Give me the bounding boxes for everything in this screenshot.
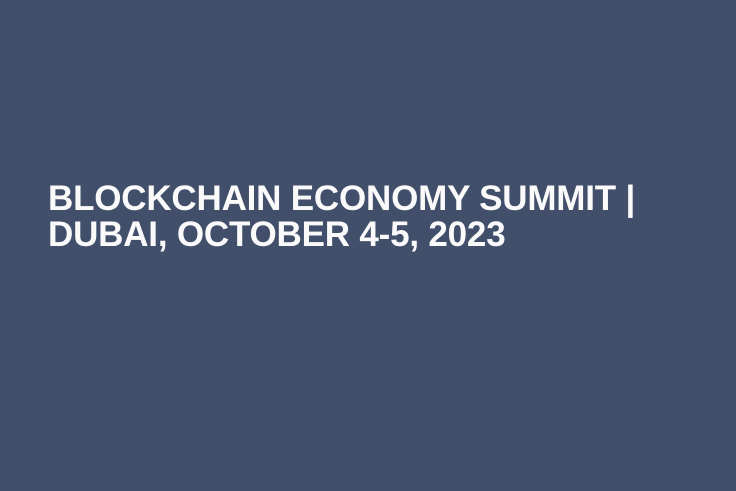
headline-line-2: DUBAI, OCTOBER 4-5, 2023 xyxy=(48,217,688,253)
headline-line-1: BLOCKCHAIN ECONOMY SUMMIT | xyxy=(48,181,688,217)
banner-headline: BLOCKCHAIN ECONOMY SUMMIT | DUBAI, OCTOB… xyxy=(48,181,688,253)
event-banner: BLOCKCHAIN ECONOMY SUMMIT | DUBAI, OCTOB… xyxy=(0,0,736,491)
